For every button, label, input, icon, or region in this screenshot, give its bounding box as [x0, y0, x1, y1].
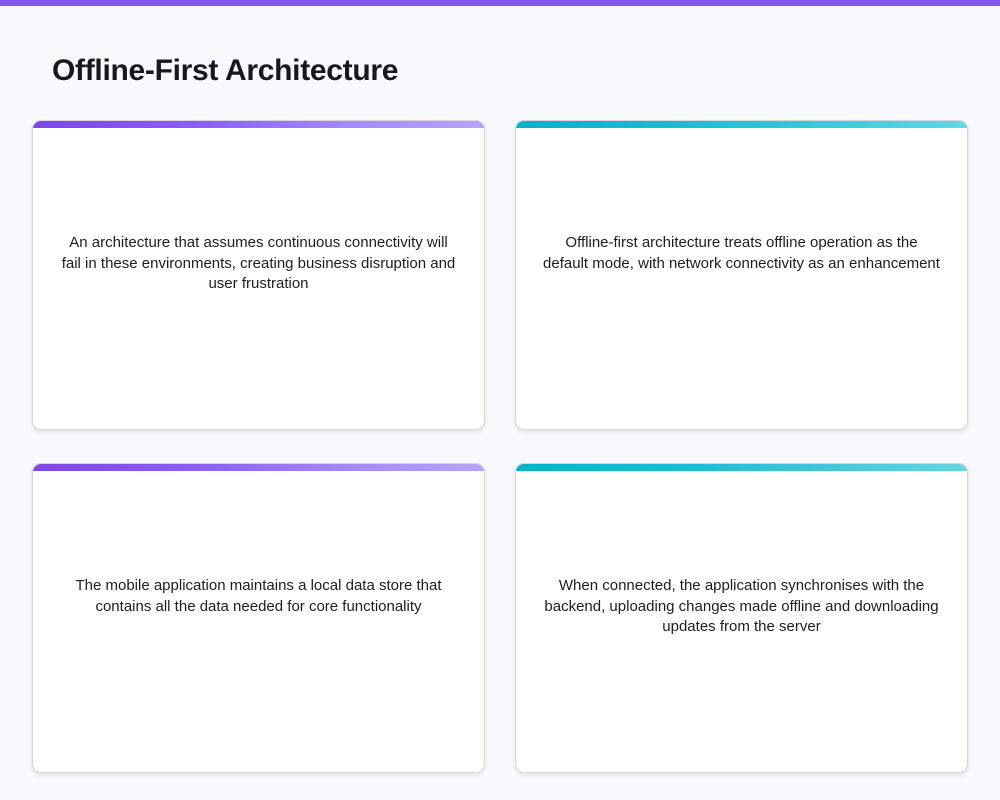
card-accent-bar — [516, 121, 967, 128]
top-accent-bar — [0, 0, 1000, 6]
card-body: Offline-first architecture treats offlin… — [516, 233, 967, 274]
card-body: When connected, the application synchron… — [516, 576, 967, 638]
content-card[interactable]: Offline-first architecture treats offlin… — [515, 120, 968, 430]
card-body: The mobile application maintains a local… — [33, 576, 484, 617]
card-accent-bar — [33, 464, 484, 471]
card-text: An architecture that assumes continuous … — [59, 233, 458, 295]
card-accent-bar — [33, 121, 484, 128]
card-text: Offline-first architecture treats offlin… — [542, 233, 941, 274]
card-grid: An architecture that assumes continuous … — [32, 120, 968, 773]
content-card[interactable]: The mobile application maintains a local… — [32, 463, 485, 773]
content-card[interactable]: An architecture that assumes continuous … — [32, 120, 485, 430]
card-accent-bar — [516, 464, 967, 471]
card-text: When connected, the application synchron… — [542, 576, 941, 638]
page-title: Offline-First Architecture — [52, 52, 398, 90]
content-card[interactable]: When connected, the application synchron… — [515, 463, 968, 773]
card-body: An architecture that assumes continuous … — [33, 233, 484, 295]
card-text: The mobile application maintains a local… — [59, 576, 458, 617]
